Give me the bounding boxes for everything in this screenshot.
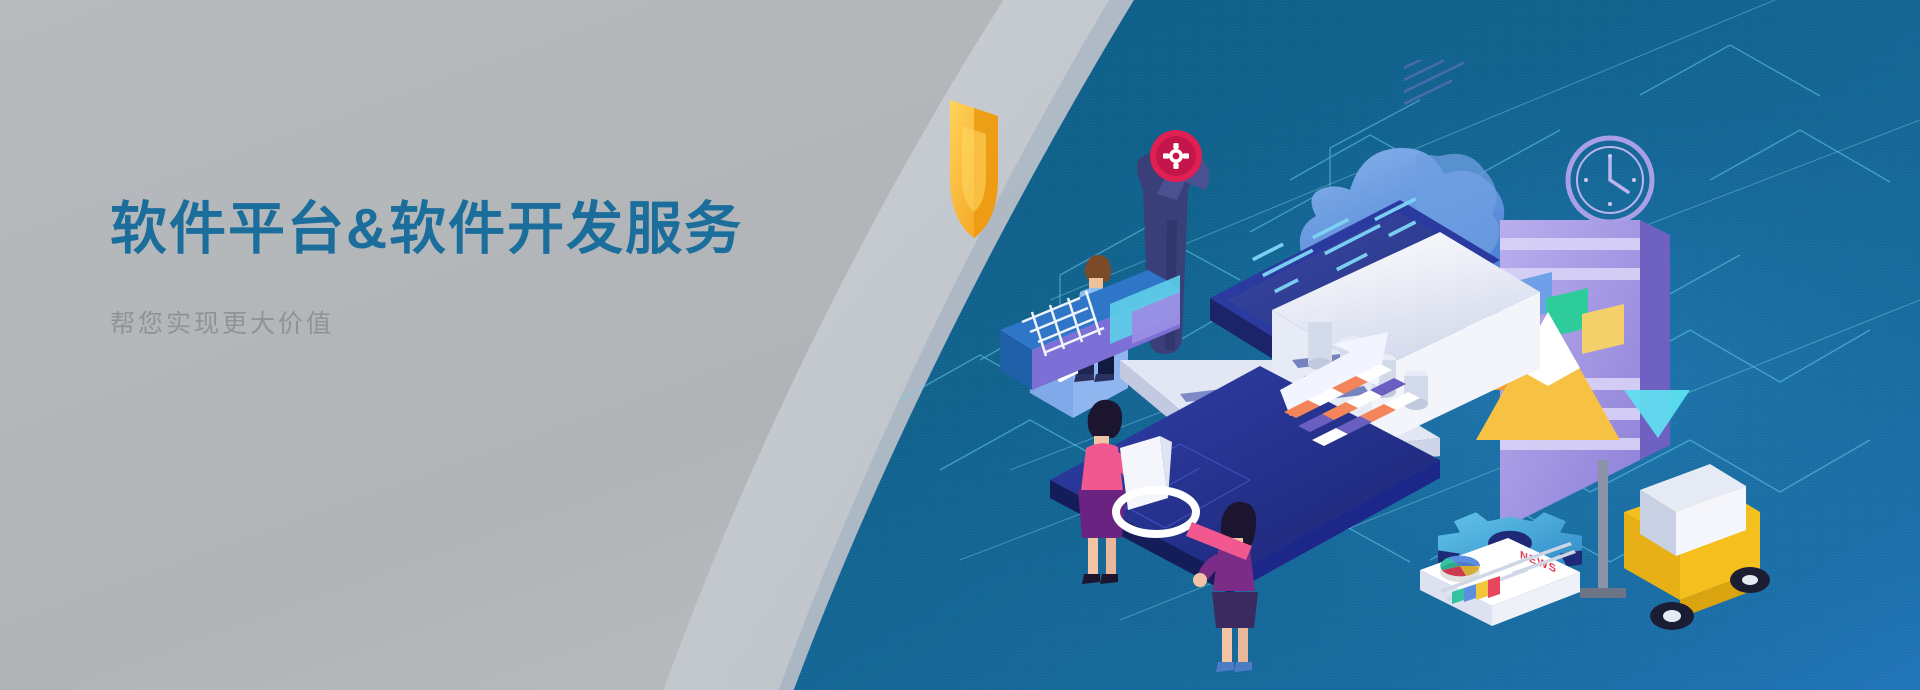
isometric-illustration: NEWS — [880, 60, 1920, 690]
illustration-canvas: NEWS — [880, 60, 1920, 690]
forklift-truck — [1580, 460, 1770, 630]
clock-icon — [1568, 138, 1652, 222]
page-title: 软件平台&软件开发服务 — [110, 196, 870, 263]
promo-banner: 软件平台&软件开发服务 帮您实现更大价值 — [0, 0, 1920, 690]
security-shield-icon — [950, 100, 998, 238]
banner-copy: 软件平台&软件开发服务 帮您实现更大价值 — [110, 196, 870, 342]
settings-gear-badge-icon — [1150, 130, 1202, 182]
page-subtitle: 帮您实现更大价值 — [110, 307, 870, 342]
